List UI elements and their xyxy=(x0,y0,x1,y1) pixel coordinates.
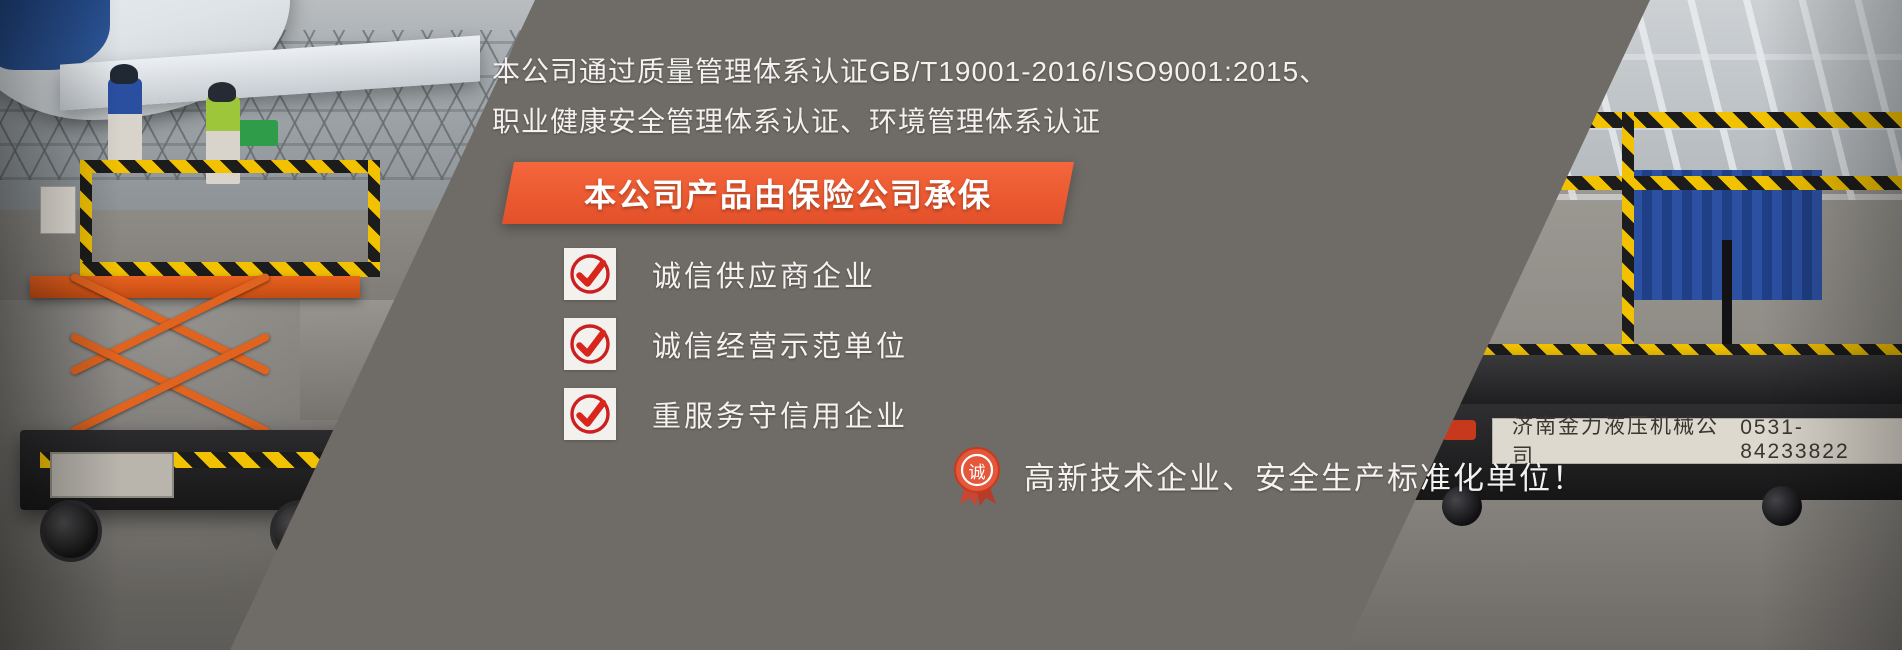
certification-list: 诚信供应商企业 诚信经营示范单位 重服务守信 xyxy=(564,240,1324,450)
check-circle-icon xyxy=(564,318,616,370)
headline-line-1: 本公司通过质量管理体系认证GB/T19001-2016/ISO9001:2015… xyxy=(492,58,1328,86)
certification-label: 诚信经营示范单位 xyxy=(652,323,908,365)
check-circle-icon xyxy=(564,388,616,440)
insurance-highlight-text: 本公司产品由保险公司承保 xyxy=(508,162,1068,224)
list-item: 诚信经营示范单位 xyxy=(564,310,1324,378)
certification-label: 诚信供应商企业 xyxy=(652,253,876,295)
list-item: 诚信供应商企业 xyxy=(564,240,1324,308)
highlight-row: 诚 高新技术企业、安全生产标准化单位！ xyxy=(940,438,1585,512)
headline-line-2: 职业健康安全管理体系认证、环境管理体系认证 xyxy=(492,108,1101,136)
banner-content: 本公司通过质量管理体系认证GB/T19001-2016/ISO9001:2015… xyxy=(480,0,1380,650)
highlight-label: 高新技术企业、安全生产标准化单位！ xyxy=(1024,453,1585,498)
check-circle-icon xyxy=(564,248,616,300)
award-rosette-icon: 诚 xyxy=(940,438,1014,512)
certification-label: 重服务守信用企业 xyxy=(652,393,908,435)
certification-banner: 济南金力液压机械公司 0531-84233822 本公司通过质量管理体系认证GB… xyxy=(0,0,1902,650)
rosette-icon-text: 诚 xyxy=(969,463,986,483)
